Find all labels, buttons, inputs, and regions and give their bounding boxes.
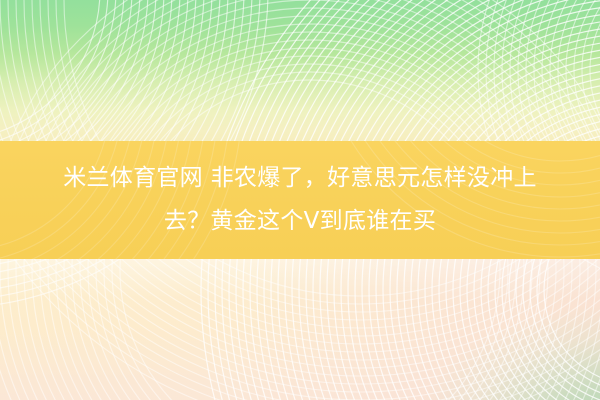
banner-image: 米兰体育官网 非农爆了，好意思元怎样没冲上 去？黄金这个V到底谁在买 xyxy=(0,0,600,400)
headline-band: 米兰体育官网 非农爆了，好意思元怎样没冲上 去？黄金这个V到底谁在买 xyxy=(0,141,600,259)
background-gradient-top xyxy=(0,0,600,142)
headline-line-1: 米兰体育官网 非农爆了，好意思元怎样没冲上 xyxy=(63,157,537,200)
headline-text: 米兰体育官网 非农爆了，好意思元怎样没冲上 去？黄金这个V到底谁在买 xyxy=(0,141,600,259)
headline-line-2: 去？黄金这个V到底谁在买 xyxy=(164,200,436,243)
